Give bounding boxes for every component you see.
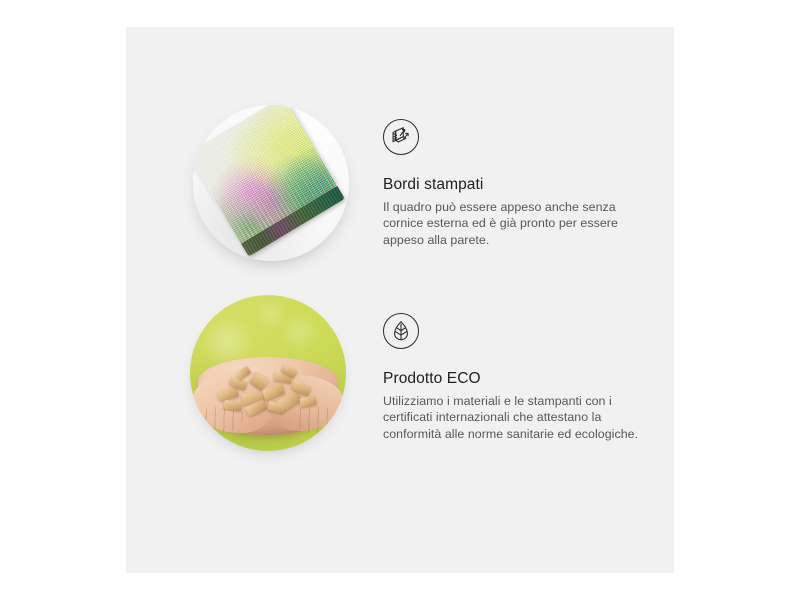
feature-description: Utilizziamo i materiali e le stampanti c… bbox=[383, 393, 655, 442]
leaf-icon bbox=[383, 313, 419, 349]
feature-title: Prodotto ECO bbox=[383, 369, 655, 388]
content-panel: Bordi stampati Il quadro può essere appe… bbox=[126, 27, 674, 573]
printed-canvas-edge-icon bbox=[383, 119, 419, 155]
feature-printed-edges-text: Bordi stampati Il quadro può essere appe… bbox=[383, 119, 655, 248]
feature-description: Il quadro può essere appeso anche senza … bbox=[383, 199, 655, 248]
feature-printed-edges: Bordi stampati Il quadro può essere appe… bbox=[126, 105, 674, 280]
feature-title: Bordi stampati bbox=[383, 175, 655, 194]
canvas-corner-photo bbox=[193, 105, 349, 261]
wood-chips-pile bbox=[216, 367, 320, 417]
page-stage: Bordi stampati Il quadro può essere appe… bbox=[0, 0, 800, 600]
canvas-printed-face bbox=[193, 105, 337, 244]
canvas-artwork bbox=[193, 105, 349, 261]
hands-wood-chips-photo bbox=[190, 295, 346, 451]
feature-eco-product-text: Prodotto ECO Utilizziamo i materiali e l… bbox=[383, 313, 655, 442]
feature-eco-product: Prodotto ECO Utilizziamo i materiali e l… bbox=[126, 295, 674, 480]
